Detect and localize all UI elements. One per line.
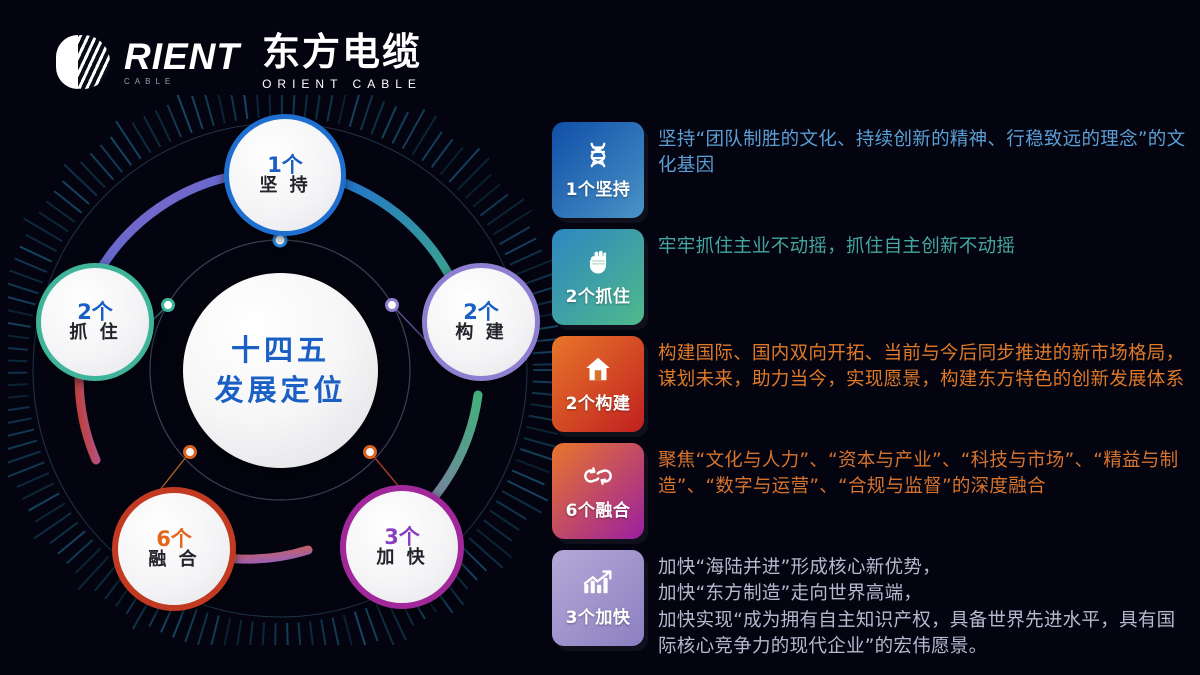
badge-3-label: 2个构建 <box>566 389 631 414</box>
house-icon <box>583 352 613 386</box>
badge-2ge-zhuazhu[interactable]: 2个抓住 <box>552 229 644 325</box>
node-2-label: 抓 住 <box>69 323 120 344</box>
diagram-node-2ge-zhuazhu[interactable]: 2个 抓 住 <box>36 263 154 381</box>
orient-disc-mark-icon <box>56 35 110 89</box>
item-1-description: 坚持“团队制胜的文化、持续创新的精神、行稳致远的理念”的文化基因 <box>644 122 1192 180</box>
node-3-label: 构 建 <box>455 323 506 344</box>
item-4-description: 聚焦“文化与人力”、“资本与产业”、“科技与市场”、“精益与制造”、“数字与运营… <box>644 443 1192 501</box>
list-item[interactable]: 6个融合 聚焦“文化与人力”、“资本与产业”、“科技与市场”、“精益与制造”、“… <box>552 443 1192 539</box>
node-3-number: 2个 <box>463 301 499 323</box>
node-1-label: 坚 持 <box>259 176 310 197</box>
node-4-number: 6个 <box>156 528 192 550</box>
logo-wordmark-sub: CABLE <box>124 78 240 86</box>
fist-icon <box>584 245 612 279</box>
badge-6ge-ronghe[interactable]: 6个融合 <box>552 443 644 539</box>
badge-2ge-goujian[interactable]: 2个构建 <box>552 336 644 432</box>
diagram-center-label: 十四五 发展定位 <box>183 273 378 468</box>
badge-2-label: 2个抓住 <box>566 282 631 307</box>
logo-wordmark: RIENT CABLE <box>124 38 240 86</box>
dna-icon <box>583 138 613 172</box>
diagram-node-2ge-goujian[interactable]: 2个 构 建 <box>422 263 540 381</box>
logo-chinese-block: 东方电缆 ORIENT CABLE <box>262 33 422 91</box>
slide-canvas: RIENT CABLE 东方电缆 ORIENT CABLE <box>0 0 1200 675</box>
list-item[interactable]: 3个加快 加快“海陆并进”形成核心新优势， 加快“东方制造”走向世界高端， 加快… <box>552 550 1192 660</box>
logo-chinese-name: 东方电缆 <box>262 33 422 71</box>
list-item[interactable]: 1个坚持 坚持“团队制胜的文化、持续创新的精神、行稳致远的理念”的文化基因 <box>552 122 1192 218</box>
infinity-loop-icon <box>581 459 615 493</box>
badge-1ge-jianchi[interactable]: 1个坚持 <box>552 122 644 218</box>
circular-diagram: 十四五 发展定位 1个 坚 持 2个 抓 住 2个 构 建 6个 融 合 3个 … <box>8 95 558 645</box>
center-line-1: 十四五 <box>231 331 330 370</box>
node-5-number: 3个 <box>384 526 420 548</box>
item-5-description: 加快“海陆并进”形成核心新优势， 加快“东方制造”走向世界高端， 加快实现“成为… <box>644 550 1192 660</box>
item-2-description: 牢牢抓住主业不动摇，抓住自主创新不动摇 <box>644 229 1192 260</box>
list-item[interactable]: 2个抓住 牢牢抓住主业不动摇，抓住自主创新不动摇 <box>552 229 1192 325</box>
node-1-number: 1个 <box>267 154 303 176</box>
logo-english-name: ORIENT CABLE <box>262 77 422 91</box>
list-item[interactable]: 2个构建 构建国际、国内双向开拓、当前与今后同步推进的新市场格局，谋划未来，助力… <box>552 336 1192 432</box>
node-5-label: 加 快 <box>376 548 427 569</box>
strategy-item-list: 1个坚持 坚持“团队制胜的文化、持续创新的精神、行稳致远的理念”的文化基因 2个… <box>552 122 1192 671</box>
logo-wordmark-text: RIENT <box>124 38 240 75</box>
growth-chart-icon <box>582 566 614 600</box>
center-line-2: 发展定位 <box>214 371 346 410</box>
brand-logo: RIENT CABLE 东方电缆 ORIENT CABLE <box>56 33 422 91</box>
node-2-number: 2个 <box>77 301 113 323</box>
badge-4-label: 6个融合 <box>566 496 631 521</box>
diagram-node-1ge-jianchi[interactable]: 1个 坚 持 <box>224 114 346 236</box>
badge-5-label: 3个加快 <box>566 603 631 628</box>
badge-3ge-jiakuai[interactable]: 3个加快 <box>552 550 644 646</box>
node-4-label: 融 合 <box>148 550 199 571</box>
badge-1-label: 1个坚持 <box>566 175 631 200</box>
diagram-node-6ge-ronghe[interactable]: 6个 融 合 <box>112 487 236 611</box>
item-3-description: 构建国际、国内双向开拓、当前与今后同步推进的新市场格局，谋划未来，助力当今，实现… <box>644 336 1192 394</box>
diagram-node-3ge-jiakuai[interactable]: 3个 加 快 <box>340 485 464 609</box>
